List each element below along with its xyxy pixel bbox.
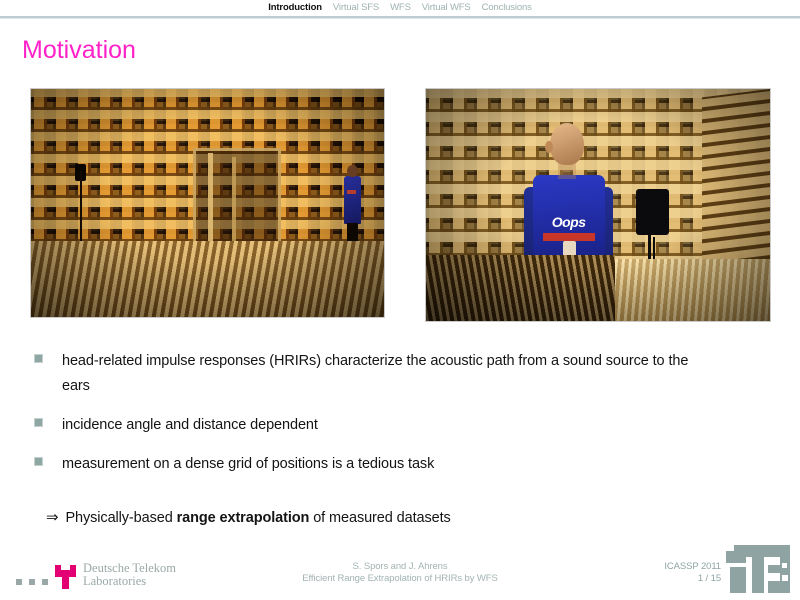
tu-berlin-logo-icon <box>720 543 792 595</box>
bullet-list: head-related impulse responses (HRIRs) c… <box>34 349 734 491</box>
list-item-text: head-related impulse responses (HRIRs) c… <box>62 349 707 399</box>
nav-item-introduction[interactable]: Introduction <box>268 3 322 13</box>
square-bullet-icon <box>34 418 43 427</box>
list-item-text: incidence angle and distance dependent <box>62 413 318 438</box>
page-title: Motivation <box>22 38 136 63</box>
figure-anechoic-chamber-subject: Oops <box>425 88 771 322</box>
list-item: incidence angle and distance dependent <box>34 413 734 438</box>
figure-anechoic-chamber-wide <box>30 88 385 318</box>
conclusion-statement: ⇒Physically-based range extrapolation of… <box>46 508 451 526</box>
square-bullet-icon <box>34 457 43 466</box>
conclusion-prefix: Physically-based <box>65 510 176 526</box>
navigation-divider-secondary <box>0 18 800 19</box>
nav-item-virtual-wfs[interactable]: Virtual WFS <box>422 3 471 13</box>
conclusion-suffix: of measured datasets <box>309 510 450 526</box>
photo-vignette <box>31 89 384 317</box>
footer-conference: ICASSP 2011 <box>664 561 721 573</box>
implies-arrow-icon: ⇒ <box>46 509 58 526</box>
square-bullet-icon <box>34 354 43 363</box>
slide-navigation: Introduction Virtual SFS WFS Virtual WFS… <box>0 0 800 15</box>
nav-item-conclusions[interactable]: Conclusions <box>482 3 532 13</box>
photo-vignette <box>426 89 770 321</box>
footer-page-number: 1 / 15 <box>664 573 721 585</box>
conclusion-emphasis: range extrapolation <box>177 510 310 526</box>
nav-item-wfs[interactable]: WFS <box>390 3 411 13</box>
nav-item-virtual-sfs[interactable]: Virtual SFS <box>333 3 379 13</box>
footer-right-block: ICASSP 2011 1 / 15 <box>664 561 721 585</box>
list-item: measurement on a dense grid of positions… <box>34 452 734 477</box>
list-item-text: measurement on a dense grid of positions… <box>62 452 434 477</box>
list-item: head-related impulse responses (HRIRs) c… <box>34 349 734 399</box>
